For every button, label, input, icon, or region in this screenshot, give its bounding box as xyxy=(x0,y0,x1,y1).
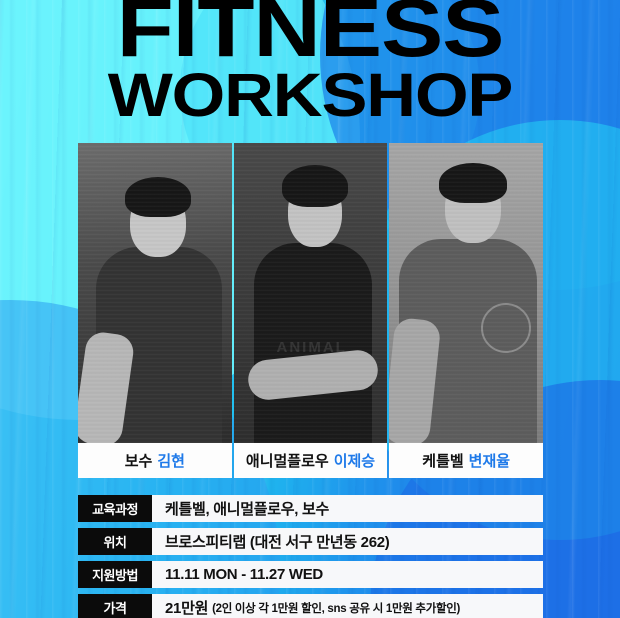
trainer-name-label: 김현 xyxy=(157,450,185,471)
info-value-text: 브로스피티랩 (대전 서구 만년동 262) xyxy=(165,531,390,552)
info-value-note: (2인 이상 각 1만원 할인, sns 공유 시 1만원 추가할인) xyxy=(212,600,460,616)
photo-grain-overlay xyxy=(234,143,388,443)
info-row-course: 교육과정 케틀벨, 애니멀플로우, 보수 xyxy=(78,495,543,522)
info-row-apply: 지원방법 11.11 MON - 11.27 WED xyxy=(78,561,543,588)
info-value-apply: 11.11 MON - 11.27 WED xyxy=(152,561,543,588)
trainer-role-label: 케틀벨 xyxy=(422,450,463,471)
poster-canvas: FITNESS WORKSHOP ANIMAL FLOW xyxy=(0,0,620,618)
trainer-caption-3: 케틀벨 변재율 xyxy=(389,443,543,478)
info-label-location: 위치 xyxy=(78,528,152,555)
poster-title: FITNESS WORKSHOP xyxy=(0,0,620,121)
info-value-course: 케틀벨, 애니멀플로우, 보수 xyxy=(152,495,543,522)
trainer-photo-3 xyxy=(389,143,543,443)
info-value-location: 브로스피티랩 (대전 서구 만년동 262) xyxy=(152,528,543,555)
trainer-name-label: 변재율 xyxy=(469,450,510,471)
info-row-price: 가격 21만원 (2인 이상 각 1만원 할인, sns 공유 시 1만원 추가… xyxy=(78,594,543,618)
info-table: 교육과정 케틀벨, 애니멀플로우, 보수 위치 브로스피티랩 (대전 서구 만년… xyxy=(78,495,543,618)
trainer-photo-1 xyxy=(78,143,232,443)
info-row-location: 위치 브로스피티랩 (대전 서구 만년동 262) xyxy=(78,528,543,555)
photo-grain-overlay xyxy=(78,143,232,443)
info-value-text: 케틀벨, 애니멀플로우, 보수 xyxy=(165,498,329,519)
trainer-photo-row: ANIMAL FLOW xyxy=(78,143,543,443)
trainer-caption-2: 애니멀플로우 이제승 xyxy=(234,443,388,478)
info-value-text: 21만원 xyxy=(165,597,208,618)
photo-grain-overlay xyxy=(389,143,543,443)
trainer-caption-row: 보수 김현 애니멀플로우 이제승 케틀벨 변재율 xyxy=(78,443,543,478)
title-line-fitness: FITNESS xyxy=(0,0,620,65)
info-value-text: 11.11 MON - 11.27 WED xyxy=(165,566,323,583)
info-label-course: 교육과정 xyxy=(78,495,152,522)
info-label-apply: 지원방법 xyxy=(78,561,152,588)
trainer-role-label: 애니멀플로우 xyxy=(246,450,329,471)
trainer-caption-1: 보수 김현 xyxy=(78,443,232,478)
trainer-photo-2: ANIMAL FLOW xyxy=(234,143,388,443)
trainer-role-label: 보수 xyxy=(125,450,153,471)
title-line-workshop: WORKSHOP xyxy=(0,69,620,121)
info-label-price: 가격 xyxy=(78,594,152,618)
info-value-price: 21만원 (2인 이상 각 1만원 할인, sns 공유 시 1만원 추가할인) xyxy=(152,594,543,618)
trainer-name-label: 이제승 xyxy=(334,450,375,471)
